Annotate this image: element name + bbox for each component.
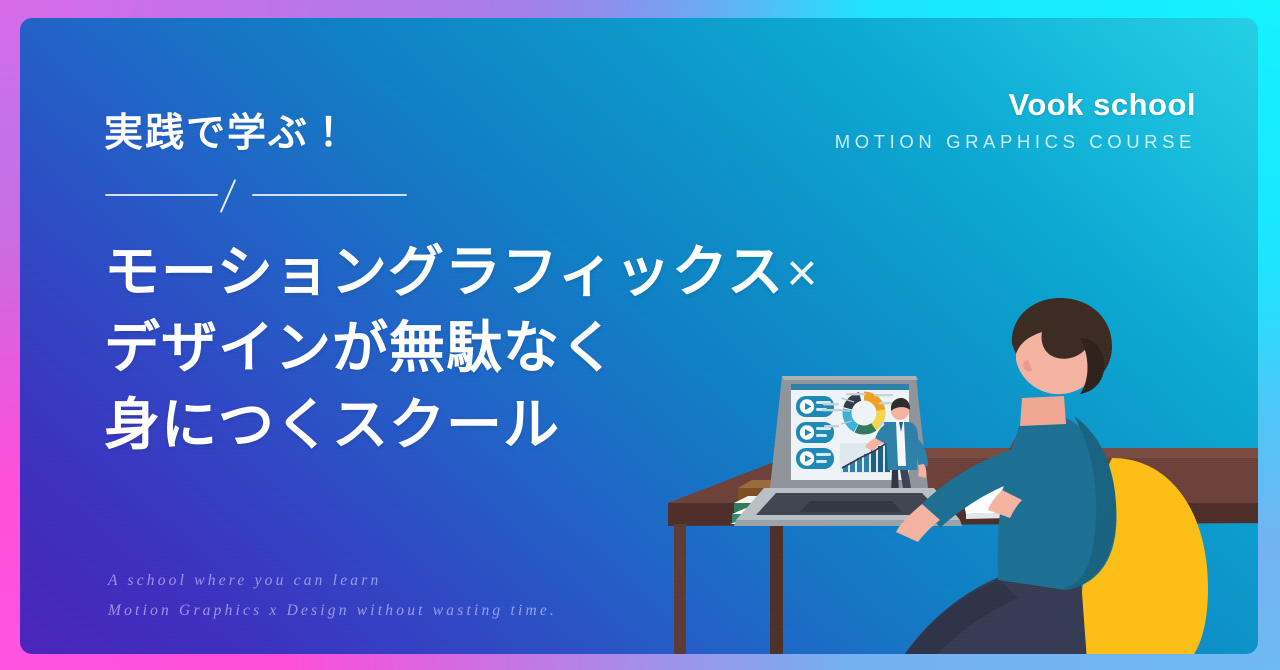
decorative-divider — [105, 186, 407, 204]
illustration-svg — [660, 298, 1258, 654]
subcopy-line-1: A school where you can learn — [108, 566, 557, 596]
divider-line-right — [252, 194, 407, 196]
hero-illustration — [660, 298, 1258, 654]
eyebrow-text: 実践で学ぶ！ — [104, 114, 350, 153]
multiply-icon: × — [786, 243, 818, 303]
brand-lockup: Vook school MOTION GRAPHICS COURSE — [835, 88, 1196, 153]
video-thumbnail-1 — [796, 396, 834, 417]
subcopy-line-2: Motion Graphics x Design without wasting… — [108, 596, 557, 626]
poster-frame: Vook school MOTION GRAPHICS COURSE 実践で学ぶ… — [0, 0, 1280, 670]
divider-slash-icon — [220, 179, 236, 213]
subcopy: A school where you can learn Motion Grap… — [108, 566, 557, 626]
brand-name: Vook school — [835, 88, 1196, 122]
video-thumbnail-3 — [796, 448, 834, 469]
video-thumbnail-list — [796, 396, 834, 469]
poster-card: Vook school MOTION GRAPHICS COURSE 実践で学ぶ… — [20, 18, 1258, 654]
headline-line-1-text: モーショングラフィックス — [104, 240, 784, 303]
divider-line-left — [105, 194, 218, 196]
brand-course-label: MOTION GRAPHICS COURSE — [835, 131, 1196, 153]
